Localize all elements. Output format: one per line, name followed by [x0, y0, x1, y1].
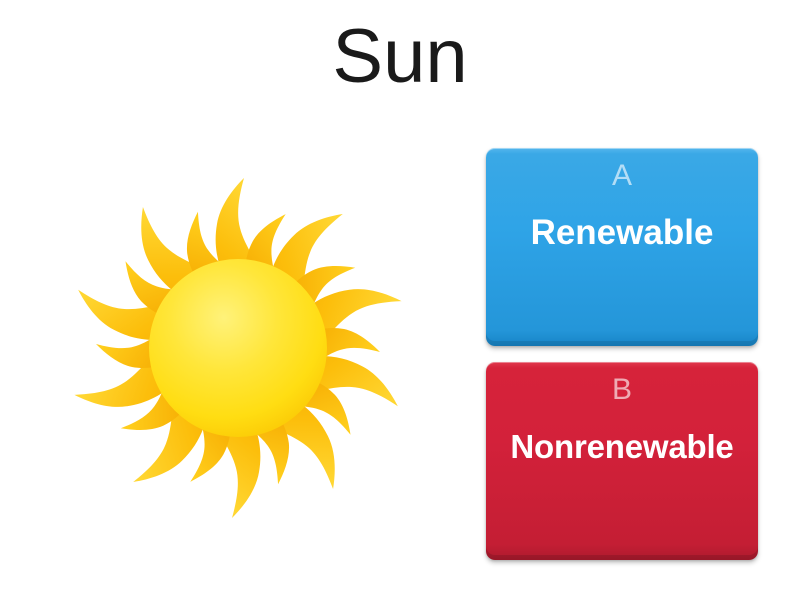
sun-icon: [18, 128, 458, 568]
page-title: Sun: [0, 14, 800, 100]
sun-core: [149, 259, 327, 437]
answer-label-a: Renewable: [494, 212, 750, 254]
answer-option-a[interactable]: A Renewable: [486, 148, 758, 346]
answer-label-b: Nonrenewable: [494, 426, 750, 468]
sun-illustration: [18, 128, 458, 568]
answer-letter-a: A: [494, 158, 750, 194]
answer-option-b[interactable]: B Nonrenewable: [486, 362, 758, 560]
answer-letter-b: B: [494, 372, 750, 408]
